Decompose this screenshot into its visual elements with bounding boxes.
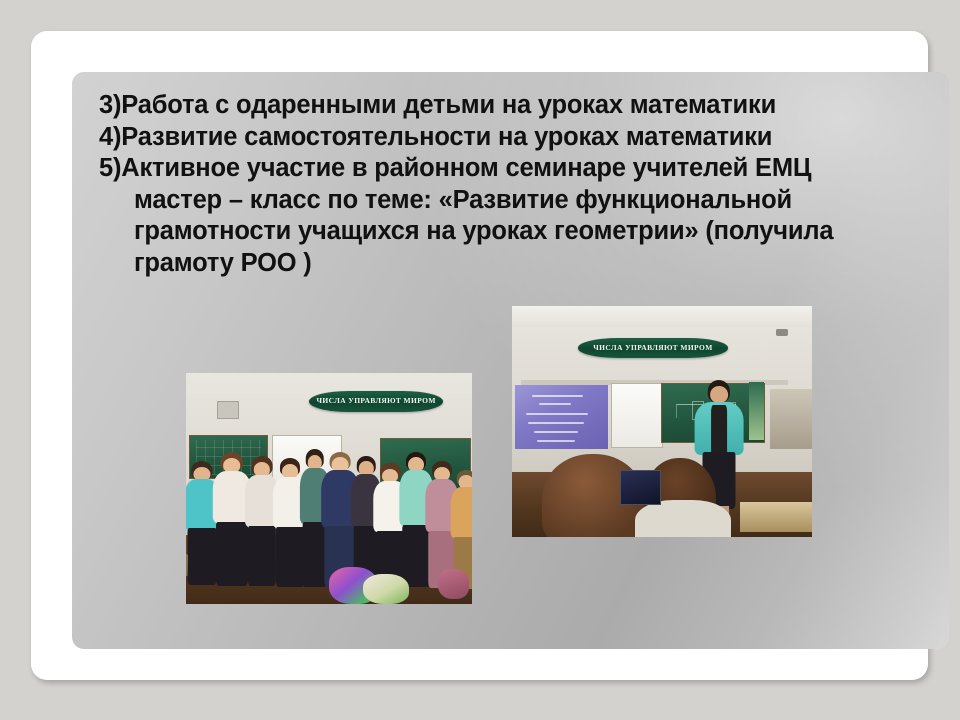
bullet-text-block: 3)Работа с одаренными детьми на уроках м… [99,90,929,279]
torso [451,487,472,538]
head [710,386,728,403]
banner-numbers-rule-world: ЧИСЛА УПРАВЛЯЮТ МИРОМ [309,391,443,412]
slide-frame: 3)Работа с одаренными детьми на уроках м… [31,31,928,680]
projection-text-line [534,431,579,433]
slide-content-panel: 3)Работа с одаренными детьми на уроках м… [72,72,949,649]
gift-bags [363,574,409,604]
whiteboard [611,383,663,447]
photo-group: ЧИСЛА УПРАВЛЯЮТ МИРОМ [186,373,472,604]
wall-plaque-icon [217,401,239,419]
projection-text-line [537,440,574,442]
cabinet [770,389,812,449]
photo-presenter: ЧИСЛА УПРАВЛЯЮТ МИРОМ [512,306,812,537]
handbag [438,569,469,599]
bullet-line-5-cont-3: грамоту РОО ) [99,248,929,280]
ceiling-strip [512,306,812,327]
bullet-line-5: 5)Активное участие в районном семинаре у… [99,153,929,185]
blouse-front [711,405,727,455]
projection-text-line [539,403,571,405]
photo-group-scene: ЧИСЛА УПРАВЛЯЮТ МИРОМ [186,373,472,604]
banner-numbers-rule-world: ЧИСЛА УПРАВЛЯЮТ МИРОМ [578,338,728,358]
bullet-line-3: 3)Работа с одаренными детьми на уроках м… [99,90,929,122]
bullet-line-5-cont-1: мастер – класс по теме: «Развитие функци… [99,185,929,217]
photo-presenter-scene: ЧИСЛА УПРАВЛЯЮТ МИРОМ [512,306,812,537]
ceiling-speaker-icon [776,329,788,336]
projection-text-line [528,422,584,424]
bullet-line-5-cont-2: грамотности учащихся на уроках геометрии… [99,216,929,248]
projection-text-line [532,395,583,397]
bullet-line-4: 4)Развитие самостоятельности на уроках м… [99,122,929,154]
projection-screen [515,385,608,450]
desk-foreground [740,502,812,532]
slide-root: 3)Работа с одаренными детьми на уроках м… [0,0,960,720]
projection-text-line [526,413,587,415]
laptop-screen [620,470,661,504]
person-audience-shoulders [635,500,731,537]
